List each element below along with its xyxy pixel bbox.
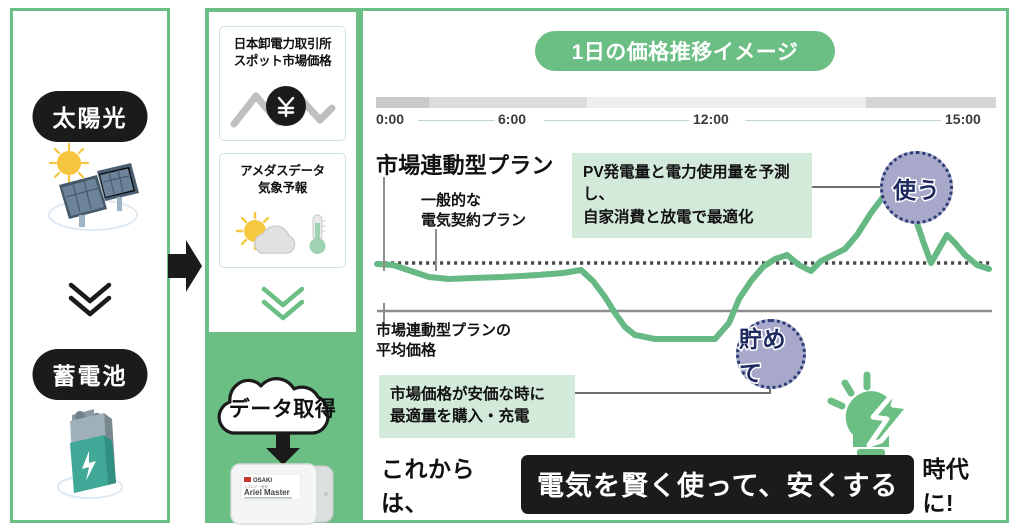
- card-amedas-line1: アメダスデータ: [220, 163, 345, 180]
- tick-general-plan: [435, 229, 437, 271]
- right-arrow-icon: [166, 236, 204, 296]
- timeline-segment-2: [429, 97, 587, 108]
- timeline-label-2: 12:00: [693, 111, 729, 127]
- tick-market-plan: [383, 177, 385, 271]
- average-price-line2: 平均価格: [376, 341, 511, 361]
- yen-price-chart-icon: [220, 80, 345, 132]
- chart-panel: 1日の価格推移イメージ 0:00 6:00 12:00 15:00 市場連: [360, 8, 1009, 523]
- callout-charge: 市場価格が安価な時に 最適量を購入・充電: [379, 375, 575, 438]
- leader-line-top: [812, 186, 882, 188]
- card-amedas-line2: 気象予報: [220, 180, 345, 197]
- footer-prefix: これからは、: [381, 450, 513, 518]
- card-amedas-title: アメダスデータ 気象予報: [220, 154, 345, 197]
- weather-forecast-icon: [220, 211, 345, 259]
- callout-optimize: PV発電量と電力使用量を予測し、 自家消費と放電で最適化: [572, 153, 812, 238]
- callout-charge-line1: 市場価格が安価な時に: [390, 384, 564, 406]
- timeline-segment-3: [587, 97, 866, 108]
- infographic-root: 太陽光: [0, 0, 1019, 531]
- card-jepx-line2: スポット市場価格: [220, 53, 345, 70]
- solar-label: 太陽光: [33, 91, 148, 142]
- average-price-line1: 市場連動型プランの: [376, 321, 511, 341]
- average-price-label: 市場連動型プランの 平均価格: [376, 321, 511, 362]
- card-jepx-title: 日本卸電力取引所 スポット市場価格: [220, 27, 345, 70]
- timeline-segment-1: [376, 97, 429, 108]
- footer-message: これからは、 電気を賢く使って、安くする 時代に!: [381, 455, 996, 513]
- timeline-label-3: 15:00: [945, 111, 981, 127]
- general-plan-line1: 一般的な: [421, 191, 526, 211]
- svg-text:Ariel Master: Ariel Master: [244, 488, 290, 497]
- cloud-label: データ取得: [207, 363, 359, 437]
- footer-highlight: 電気を賢く使って、安くする: [521, 455, 914, 514]
- market-plan-label: 市場連動型プラン: [376, 148, 554, 180]
- timeline-segment-4: [866, 97, 996, 108]
- bubble-use: 使う: [880, 151, 953, 224]
- chevron-double-down-icon: [258, 283, 308, 323]
- bubble-store-label: 貯めて: [739, 320, 803, 388]
- card-amedas: アメダスデータ 気象予報: [219, 153, 346, 268]
- card-jepx: 日本卸電力取引所 スポット市場価格: [219, 26, 346, 141]
- timeline-bar: [376, 97, 996, 108]
- chevron-double-down-icon: [65, 279, 115, 319]
- sources-panel: 太陽光: [10, 8, 170, 523]
- battery-icon: [42, 399, 138, 503]
- footer-suffix: 時代に!: [922, 450, 996, 518]
- solar-panel-icon: [35, 141, 145, 233]
- timeline-labels: 0:00 6:00 12:00 15:00: [376, 111, 996, 131]
- general-plan-label: 一般的な 電気契約プラン: [421, 191, 526, 232]
- card-jepx-line1: 日本卸電力取引所: [220, 36, 345, 53]
- battery-label: 蓄電池: [33, 349, 148, 400]
- data-acquisition-panel: 日本卸電力取引所 スポット市場価格 アメダスデータ 気象予報: [205, 8, 360, 523]
- cloud-data-acquisition: データ取得: [207, 363, 359, 437]
- callout-optimize-line1: PV発電量と電力使用量を予測し、: [583, 162, 801, 207]
- leader-line-bottom: [575, 391, 771, 394]
- svg-text:OSAKI: OSAKI: [253, 478, 272, 484]
- lightbulb-bolt-icon: [825, 369, 917, 465]
- bubble-store: 貯めて: [736, 319, 806, 389]
- gateway-device-icon: OSAKI エネルギー管理 Ariel Master: [227, 460, 339, 528]
- timeline-label-0: 0:00: [376, 111, 404, 127]
- callout-charge-line2: 最適量を購入・充電: [390, 406, 564, 428]
- callout-optimize-line2: 自家消費と放電で最適化: [583, 207, 801, 229]
- bubble-use-label: 使う: [893, 171, 940, 205]
- timeline-label-1: 6:00: [498, 111, 526, 127]
- chart-title: 1日の価格推移イメージ: [535, 31, 835, 71]
